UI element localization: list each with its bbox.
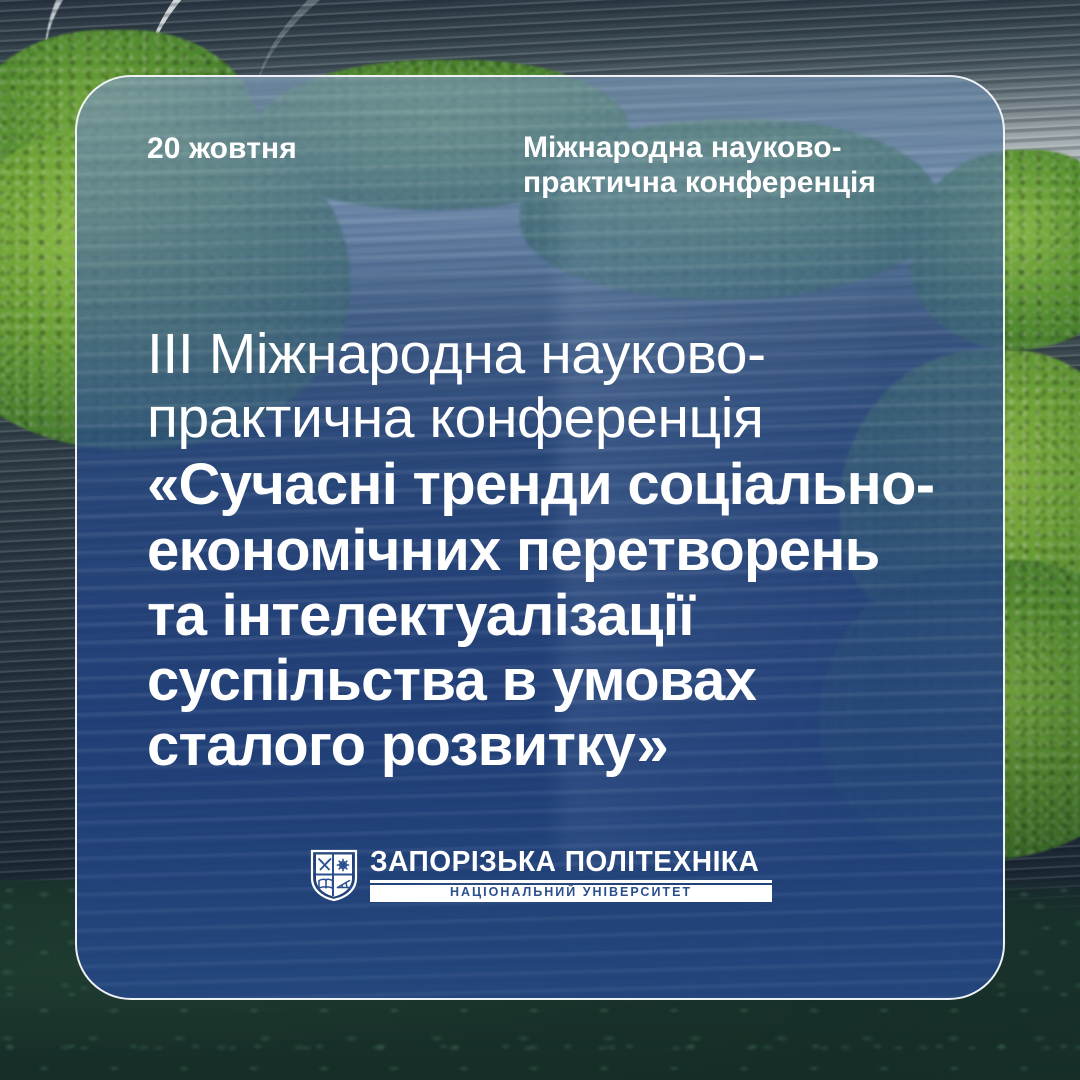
university-logo: ЗАПОРІЗЬКА ПОЛІТЕХНІКА НАЦІОНАЛЬНИЙ УНІВ… xyxy=(147,848,945,958)
poster-header: 20 жовтня Міжнародна науково-практична к… xyxy=(147,130,945,200)
university-subtitle: НАЦІОНАЛЬНИЙ УНІВЕРСИТЕТ xyxy=(374,886,767,899)
university-name: ЗАПОРІЗЬКА ПОЛІТЕХНІКА xyxy=(370,848,759,877)
event-date: 20 жовтня xyxy=(147,130,297,166)
title-line-light: III Міжнародна науково-практична конфере… xyxy=(147,323,945,450)
university-crest-icon xyxy=(310,848,358,902)
title-line-bold: «Сучасні тренди соціально-економічних пе… xyxy=(147,452,945,778)
glass-card: 20 жовтня Міжнародна науково-практична к… xyxy=(75,75,1005,1000)
poster-title: III Міжнародна науково-практична конфере… xyxy=(147,323,945,778)
event-kind-label: Міжнародна науково-практична конференція xyxy=(523,130,931,200)
card-content: 20 жовтня Міжнародна науково-практична к… xyxy=(77,77,1003,998)
university-logo-text: ЗАПОРІЗЬКА ПОЛІТЕХНІКА НАЦІОНАЛЬНИЙ УНІВ… xyxy=(370,848,771,901)
conference-poster: 20 жовтня Міжнародна науково-практична к… xyxy=(0,0,1080,1080)
university-subtitle-band: НАЦІОНАЛЬНИЙ УНІВЕРСИТЕТ xyxy=(370,885,771,901)
logo-divider xyxy=(370,880,771,883)
